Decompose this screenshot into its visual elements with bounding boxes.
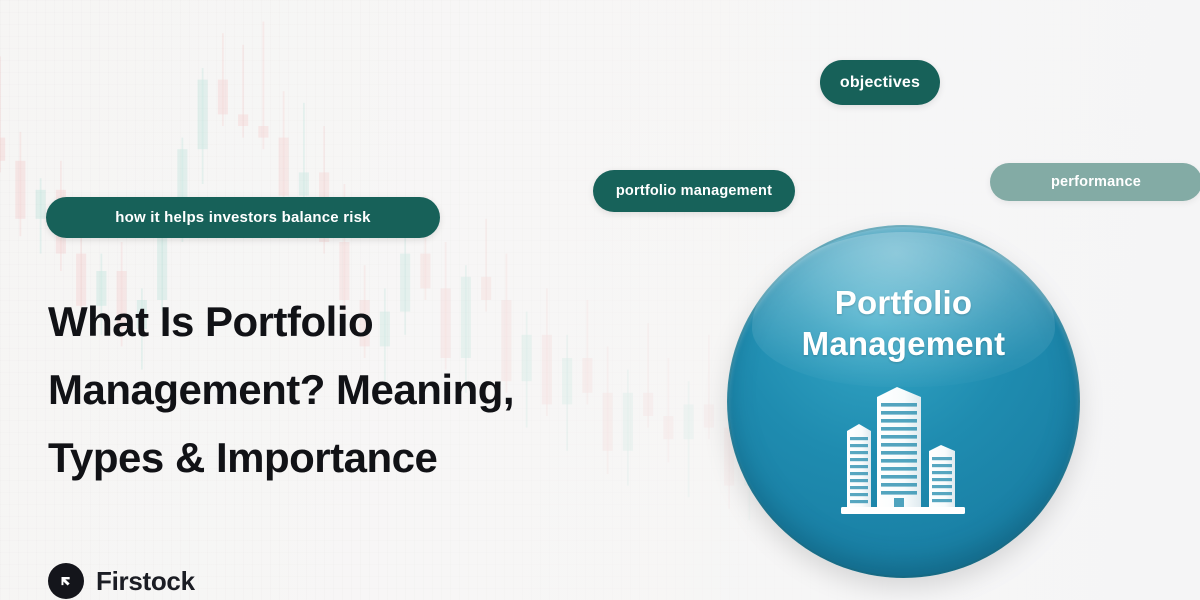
- tag-pill-portfolio-management[interactable]: portfolio management: [593, 170, 795, 212]
- brand-name-label: Firstock: [96, 566, 195, 597]
- hero-circle-title: Portfolio Management: [802, 283, 1006, 365]
- brand-logo[interactable]: Firstock: [48, 563, 195, 599]
- tag-pill-performance-label: performance: [1051, 174, 1141, 190]
- hero-circle-badge[interactable]: Portfolio Management: [727, 225, 1080, 578]
- hero-circle-title-line-1: Portfolio: [802, 283, 1006, 324]
- city-buildings-icon: [837, 379, 971, 521]
- tag-pill-objectives[interactable]: objectives: [820, 60, 940, 105]
- page-title-line-1: What Is Portfolio: [48, 288, 648, 356]
- page-title: What Is Portfolio Management? Meaning, T…: [48, 288, 648, 492]
- tag-pill-risk[interactable]: how it helps investors balance risk: [46, 197, 440, 238]
- poster-canvas: how it helps investors balance risk port…: [0, 0, 1200, 600]
- tag-pill-performance[interactable]: performance: [990, 163, 1200, 201]
- tag-pill-risk-label: how it helps investors balance risk: [115, 209, 370, 226]
- hero-circle-title-line-2: Management: [802, 324, 1006, 365]
- page-title-line-2: Management? Meaning,: [48, 356, 648, 424]
- arrow-up-right-icon: [48, 563, 84, 599]
- page-title-line-3: Types & Importance: [48, 424, 648, 492]
- tag-pill-portfolio-management-label: portfolio management: [616, 183, 772, 199]
- tag-pill-objectives-label: objectives: [840, 74, 920, 92]
